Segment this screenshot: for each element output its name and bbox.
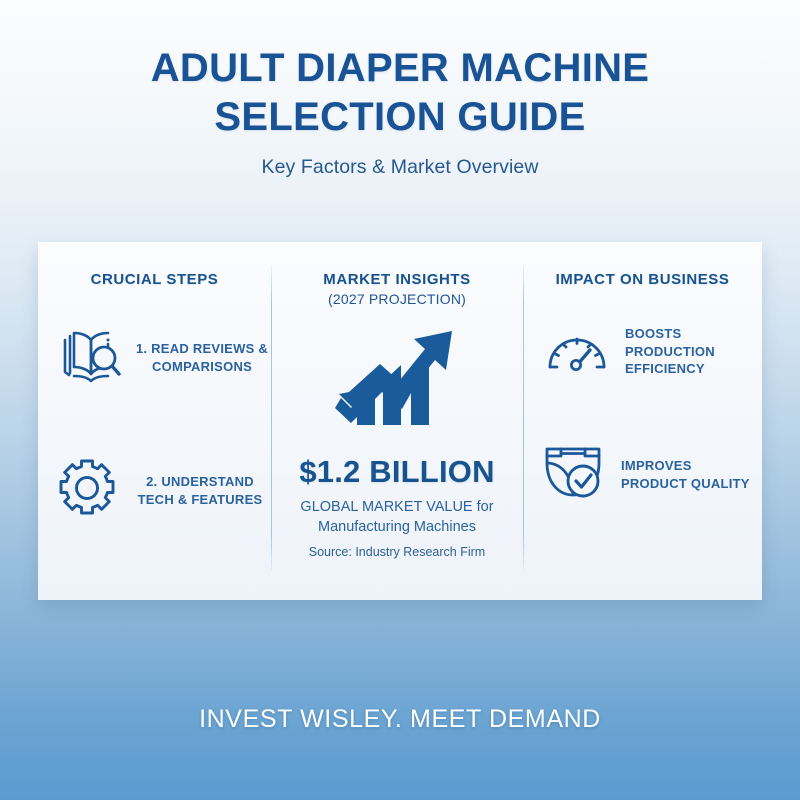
column-subheading-center: (2027 PROJECTION) xyxy=(271,291,523,307)
gear-icon xyxy=(56,457,118,524)
market-value-description-line-1: GLOBAL MARKET VALUE for xyxy=(271,497,523,517)
page-subtitle: Key Factors & Market Overview xyxy=(0,156,800,179)
market-value: $1.2 BILLION xyxy=(271,454,523,490)
header: ADULT DIAPER MACHINE SELECTION GUIDE Key… xyxy=(0,44,800,179)
book-magnifier-icon xyxy=(60,327,122,388)
column-market-insights: MARKET INSIGHTS (2027 PROJECTION) $1.2 B… xyxy=(271,242,523,600)
feature-read-reviews: 1. READ REVIEWS & COMPARISONS xyxy=(60,327,272,388)
feature-improves-quality: IMPROVES PRODUCT QUALITY xyxy=(541,443,761,506)
feature-label-read-reviews: 1. READ REVIEWS & COMPARISONS xyxy=(132,340,272,375)
column-crucial-steps: CRUCIAL STEPS 1. READ REVIEWS & COMP xyxy=(38,242,271,600)
feature-label-boosts-efficiency: BOOSTS PRODUCTION EFFICIENCY xyxy=(625,325,760,378)
growth-chart-arrow-icon xyxy=(271,320,523,433)
footer-tagline: INVEST WISLEY. MEET DEMAND xyxy=(0,705,800,734)
column-heading-center: MARKET INSIGHTS xyxy=(271,271,523,288)
feature-label-improves-quality: IMPROVES PRODUCT QUALITY xyxy=(621,457,761,492)
column-impact-on-business: IMPACT ON BUSINESS xyxy=(523,242,762,600)
feature-label-understand-tech: 2. UNDERSTAND TECH & FEATURES xyxy=(128,473,272,508)
diaper-check-icon xyxy=(541,443,605,506)
column-heading-right: IMPACT ON BUSINESS xyxy=(523,271,762,288)
market-value-description: GLOBAL MARKET VALUE for Manufacturing Ma… xyxy=(271,497,523,537)
gauge-icon xyxy=(545,325,609,378)
content-card: CRUCIAL STEPS 1. READ REVIEWS & COMP xyxy=(38,242,762,600)
market-value-description-line-2: Manufacturing Machines xyxy=(271,517,523,537)
column-heading-left: CRUCIAL STEPS xyxy=(38,271,271,288)
feature-understand-tech: 2. UNDERSTAND TECH & FEATURES xyxy=(56,457,272,524)
page-title-line-2: SELECTION GUIDE xyxy=(0,93,800,142)
page-title-line-1: ADULT DIAPER MACHINE xyxy=(0,44,800,93)
source-note: Source: Industry Research Firm xyxy=(271,545,523,559)
feature-boosts-efficiency: BOOSTS PRODUCTION EFFICIENCY xyxy=(545,325,760,378)
